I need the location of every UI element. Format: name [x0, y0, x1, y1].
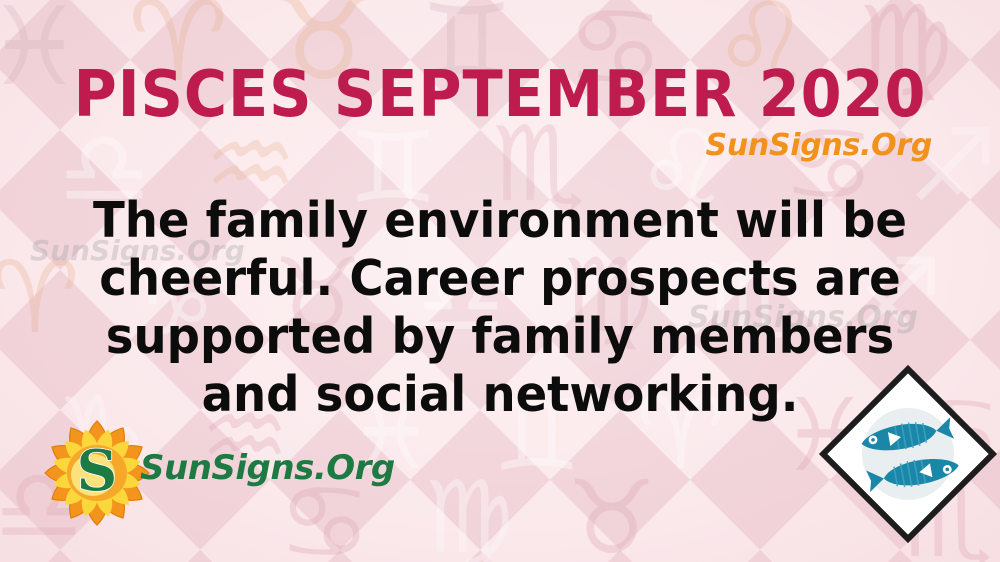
- svg-text:S: S: [77, 438, 117, 504]
- body-line-1: The family environment will be: [63, 192, 937, 250]
- brand-wordmark-orange: SunSigns.Org: [706, 128, 932, 163]
- horoscope-body-text: The family environment will be cheerful.…: [63, 192, 937, 424]
- sunsigns-logo[interactable]: S SunSigns.Org: [36, 414, 356, 532]
- body-line-3: supported by family members: [63, 308, 937, 366]
- page-title: PISCES SEPTEMBER 2020: [40, 58, 960, 132]
- horoscope-banner: ♓ ♈ ♉ ♊ ♋ ♌ ♍ ♎ ♒ ♊ ♏ ♌ ♋ ♐ ♈ ♑ ♉ ♎ ♍ ♏ …: [0, 0, 1000, 562]
- sunsigns-logo-wordmark: SunSigns.Org: [140, 448, 395, 488]
- body-line-2: cheerful. Career prospects are: [63, 250, 937, 308]
- pisces-emblem: [818, 362, 998, 547]
